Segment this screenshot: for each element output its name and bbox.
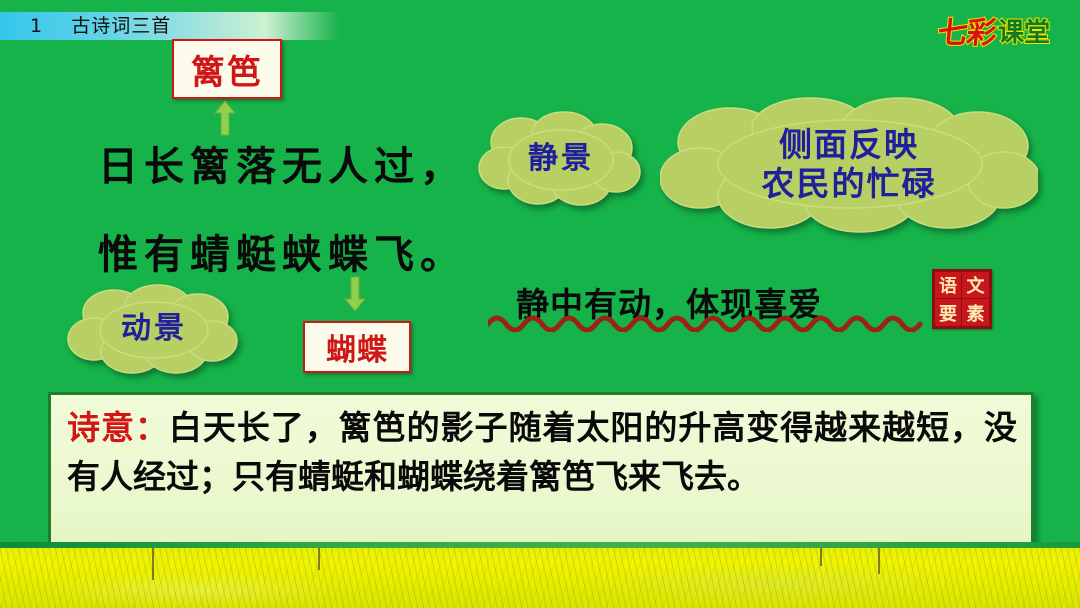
seal-char-2: 文 xyxy=(962,272,989,299)
field-stalk xyxy=(820,548,822,566)
seal-char-1: 语 xyxy=(935,272,962,299)
field-yellow-area xyxy=(0,548,1080,608)
cloud-reflection: 侧面反映农民的忙碌 xyxy=(660,96,1038,234)
seal-char-3: 要 xyxy=(935,299,962,326)
poem-line-2: 惟有蜻蜓蛱蝶飞。 xyxy=(98,222,466,280)
logo-text-primary: 七彩 xyxy=(936,8,999,52)
field-stalk xyxy=(318,548,320,570)
meaning-body: 白天长了，篱笆的影子随着太阳的升高变得越来越短，没有人经过；只有蜻蜓和蝴蝶绕着篱… xyxy=(67,408,1017,496)
meaning-label: 诗意： xyxy=(67,408,169,447)
meaning-box: 诗意：白天长了，篱笆的影子随着太阳的升高变得越来越短，没有人经过；只有蜻蜓和蝴蝶… xyxy=(48,392,1034,554)
cloud-still-scene: 静景 xyxy=(476,110,646,208)
cloud-still-scene-label: 静景 xyxy=(528,141,594,176)
status-badge-seal: 语 文 要 素 xyxy=(932,269,992,329)
cloud-reflection-label: 侧面反映农民的忙碌 xyxy=(762,126,937,204)
arrow-down-icon xyxy=(344,276,366,312)
field-stalk xyxy=(152,548,154,580)
cloud-reflection-line1: 侧面反映 xyxy=(779,125,919,164)
cloud-motion-scene-label: 动景 xyxy=(121,311,187,346)
cloud-motion-scene: 动景 xyxy=(66,283,242,375)
wavy-underline-icon xyxy=(488,308,924,332)
keyword-box-butterfly: 蝴蝶 xyxy=(303,321,411,373)
seal-char-4: 素 xyxy=(962,299,989,326)
field-grass-texture xyxy=(0,548,1080,608)
meaning-text: 诗意：白天长了，篱笆的影子随着太阳的升高变得越来越短，没有人经过；只有蜻蜓和蝴蝶… xyxy=(67,403,1017,501)
page-title: 1 古诗词三首 xyxy=(30,13,171,39)
slide-canvas: 1 古诗词三首 七彩 课堂 篱笆 日长篱落无人过， 惟有蜻蜓蛱蝶飞。 静景 xyxy=(0,0,1080,608)
cloud-reflection-line2: 农民的忙碌 xyxy=(762,164,937,203)
poem-line-1: 日长篱落无人过， xyxy=(98,134,466,192)
logo-text-secondary: 课堂 xyxy=(998,12,1050,49)
arrow-up-icon xyxy=(214,100,236,136)
field-photo-strip xyxy=(0,542,1080,608)
keyword-box-fence: 篱笆 xyxy=(172,39,282,99)
brand-logo: 七彩 课堂 xyxy=(926,10,1062,50)
field-stalk xyxy=(878,548,880,574)
